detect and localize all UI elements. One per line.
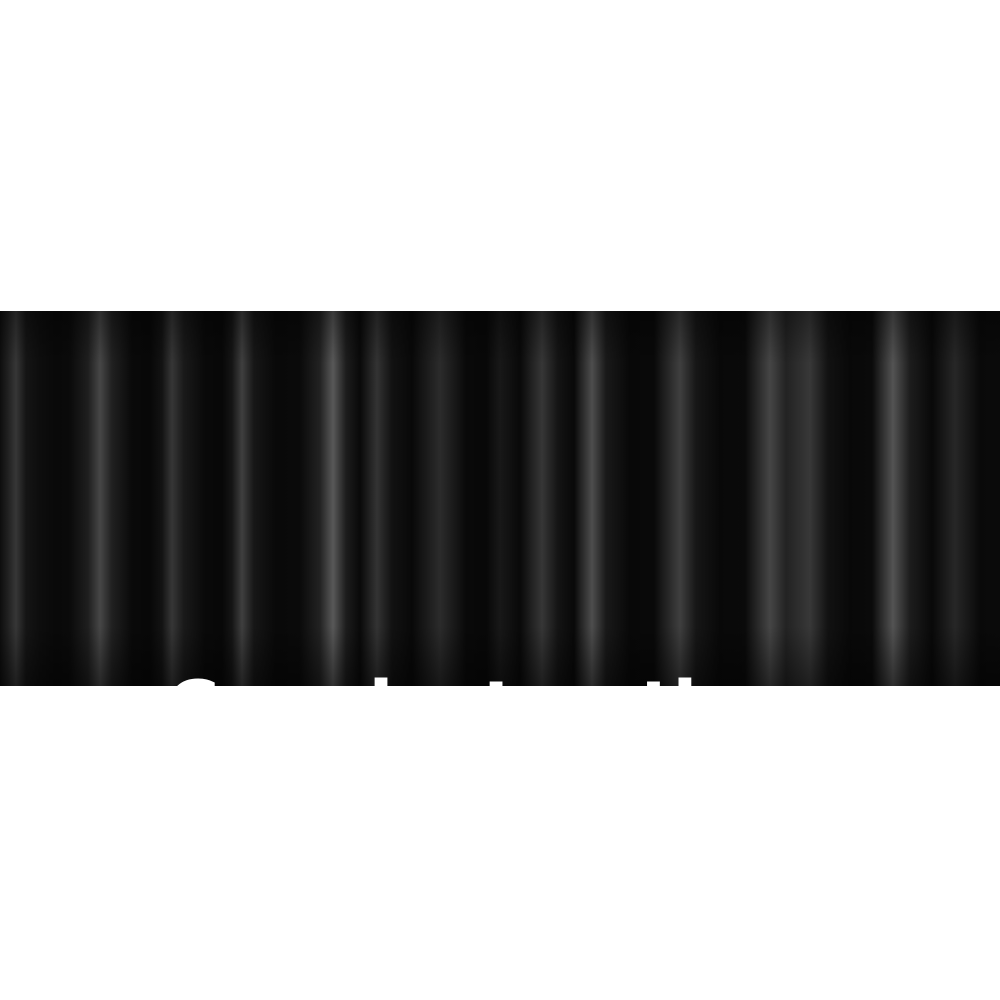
banner-content: Care instructions Machine washable cold xyxy=(0,311,1000,686)
care-instructions-banner: Care instructions Machine washable cold xyxy=(0,311,1000,686)
page-canvas: Care instructions Machine washable cold xyxy=(0,0,1000,1000)
page-title: Care instructions xyxy=(0,672,1000,686)
